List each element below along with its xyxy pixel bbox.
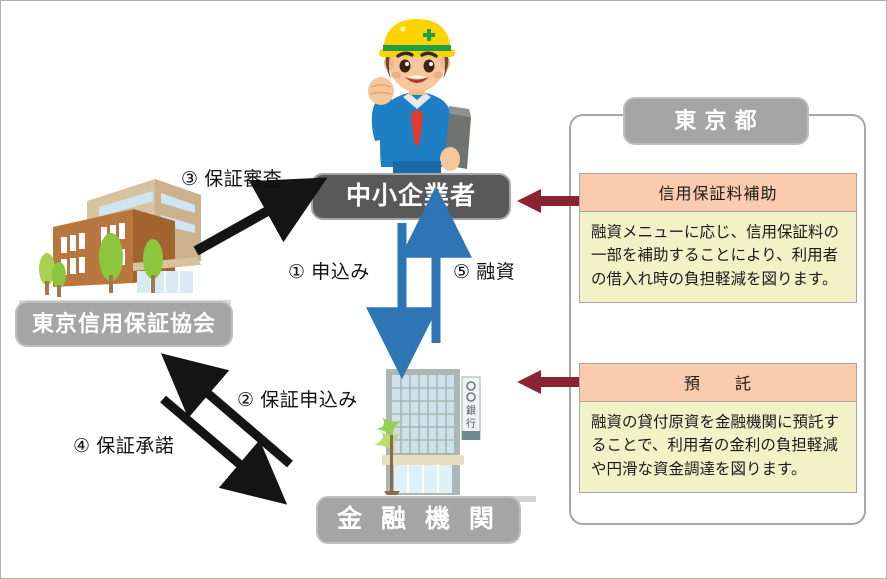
entity-sme-label: 中小企業者 (346, 183, 476, 211)
diagram-canvas: 銀 行 中小企業者 東京信用保証協会 金 融 機 関 (0, 0, 887, 579)
entity-financial-institution-label: 金 融 機 関 (337, 506, 500, 534)
card-credit-guarantee-subsidy-body: 融資メニューに応じ、信用保証料の一部を補助することにより、利用者の借入れ時の負担… (580, 212, 856, 302)
svg-text:行: 行 (466, 417, 476, 430)
step-label-5: ⑤ 融資 (453, 257, 515, 284)
step-label-3: ③ 保証審査 (181, 164, 282, 191)
svg-text:銀: 銀 (466, 404, 476, 417)
step-label-4: ④ 保証承諾 (73, 431, 174, 458)
step-label-1: ① 申込み (288, 257, 370, 284)
tokyo-panel-header-label: 東 京 都 (674, 109, 757, 133)
card-deposit[interactable]: 預 託 融資の貸付原資を金融機関に預託することで、利用者の金利の負担軽減や円滑な… (579, 363, 857, 493)
card-deposit-title: 預 託 (580, 364, 856, 402)
tokyo-panel-header[interactable]: 東 京 都 (623, 97, 809, 145)
step-label-2: ② 保証申込み (237, 385, 358, 412)
card-credit-guarantee-subsidy[interactable]: 信用保証料補助 融資メニューに応じ、信用保証料の一部を補助することにより、利用者… (579, 173, 857, 303)
construction-worker-illustration (353, 9, 481, 177)
entity-guarantee-association-label: 東京信用保証協会 (32, 312, 216, 336)
card-deposit-body: 融資の貸付原資を金融機関に預託することで、利用者の金利の負担軽減や円滑な資金調達… (580, 402, 856, 492)
entity-guarantee-association[interactable]: 東京信用保証協会 (15, 301, 233, 347)
bank-building-illustration: 銀 行 (368, 363, 493, 501)
entity-sme[interactable]: 中小企業者 (311, 173, 511, 220)
card-credit-guarantee-subsidy-title: 信用保証料補助 (580, 174, 856, 212)
entity-financial-institution[interactable]: 金 融 機 関 (316, 496, 521, 544)
